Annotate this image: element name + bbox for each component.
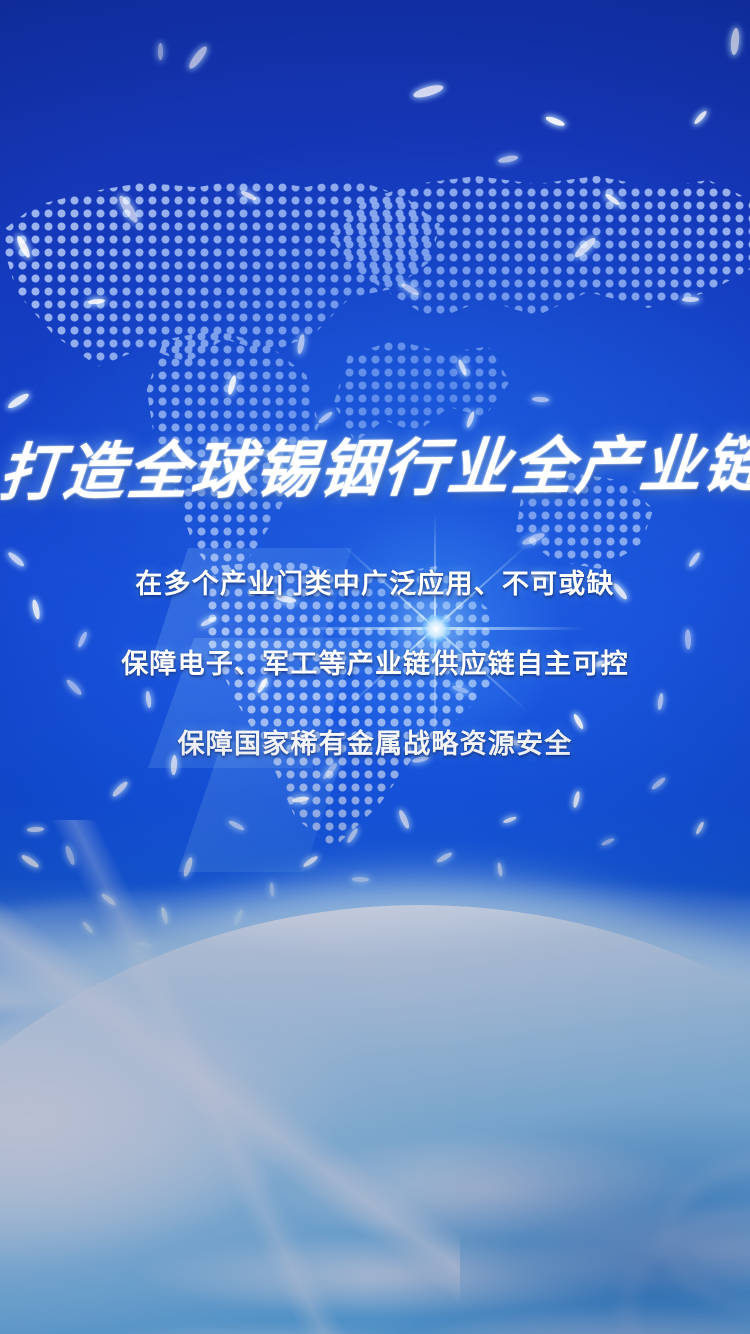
- poster-canvas: 打造全球锡铟行业全产业链链主 在多个产业门类中广泛应用、不可或缺 保障电子、军工…: [0, 0, 750, 1334]
- main-title: 打造全球锡铟行业全产业链链主: [0, 413, 750, 512]
- text-layer: 打造全球锡铟行业全产业链链主 在多个产业门类中广泛应用、不可或缺 保障电子、军工…: [0, 0, 750, 1334]
- subtitle-line-2: 保障电子、军工等产业链供应链自主可控: [0, 642, 750, 681]
- subtitle-line-1: 在多个产业门类中广泛应用、不可或缺: [0, 562, 750, 601]
- subtitle-line-3: 保障国家稀有金属战略资源安全: [0, 722, 750, 761]
